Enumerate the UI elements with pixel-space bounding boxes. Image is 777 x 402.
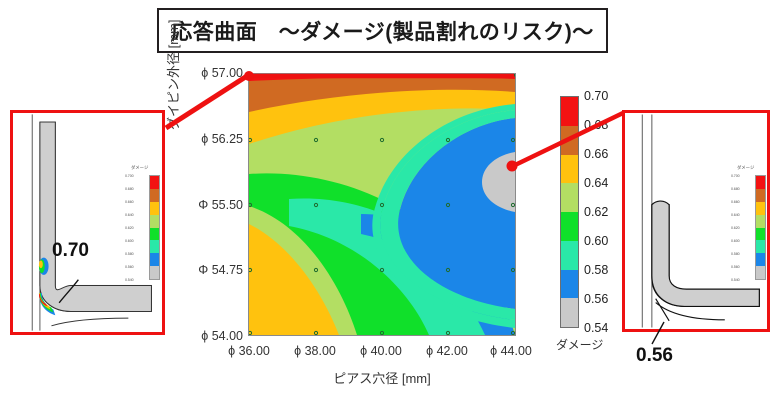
mini-val-0560: 0.560 [125, 265, 134, 269]
mini-val-0700: 0.700 [731, 174, 740, 178]
colorbar-label-068: 0.68 [584, 118, 608, 132]
colorbar-label-054: 0.54 [584, 321, 608, 335]
mini-colorbar-title: ダメージ [737, 165, 754, 171]
x-tick-36: ϕ 36.00 [228, 344, 270, 358]
callout-value-right: 0.56 [636, 345, 673, 367]
swatch-058 [561, 270, 578, 299]
colorbar-label-062: 0.62 [584, 205, 608, 219]
swatch-070 [561, 97, 578, 126]
mini-colorbar-title: ダメージ [131, 165, 148, 171]
swatch-064 [561, 183, 578, 212]
colorbar-swatches [560, 96, 579, 328]
y-axis-ticklabels: ϕ 57.00 ϕ 56.25 Φ 55.50 Φ 54.75 ϕ 54.00 [196, 73, 243, 336]
mini-val-0620: 0.620 [125, 226, 134, 230]
colorbar-label-066: 0.66 [584, 147, 608, 161]
swatch-060 [561, 241, 578, 270]
y-tick-57: ϕ 57.00 [201, 66, 243, 80]
y-tick-54: ϕ 54.00 [201, 329, 243, 343]
mini-val-0600: 0.600 [731, 239, 740, 243]
mini-val-0560: 0.560 [731, 265, 740, 269]
y-tick-5625: ϕ 56.25 [201, 132, 243, 146]
mini-val-0580: 0.580 [731, 252, 740, 256]
x-tick-40: ϕ 40.00 [360, 344, 402, 358]
cae-inset-left: ダメージ 0.700 0.680 0.660 0.640 0.620 0.600… [10, 110, 165, 335]
colorbar-legend: 0.70 0.68 0.66 0.64 0.62 0.60 0.58 0.56 … [560, 96, 620, 334]
mini-colorbar-swatches [149, 175, 160, 280]
swatch-066 [561, 155, 578, 184]
damage-hotspot-upper [39, 258, 49, 275]
mini-val-0600: 0.600 [125, 239, 134, 243]
cae-inset-right: ダメージ 0.700 0.680 0.660 0.640 0.620 0.600… [622, 110, 770, 332]
mini-val-0660: 0.660 [731, 200, 740, 204]
callout-value-left: 0.70 [52, 240, 89, 262]
x-tick-44: ϕ 44.00 [490, 344, 532, 358]
mini-val-0680: 0.680 [731, 187, 740, 191]
y-axis-title: ダイピン外径 [mm] [163, 20, 182, 131]
contour-bands [249, 74, 515, 335]
colorbar-title: ダメージ [556, 336, 603, 353]
x-tick-42: ϕ 42.00 [426, 344, 468, 358]
mini-colorbar-left: ダメージ 0.700 0.680 0.660 0.640 0.620 0.600… [125, 165, 165, 285]
colorbar-label-064: 0.64 [584, 176, 608, 190]
swatch-056 [561, 298, 578, 327]
mini-val-0640: 0.640 [125, 213, 134, 217]
mini-colorbar-swatches [755, 175, 766, 280]
contour-canvas [248, 73, 516, 336]
mini-val-0680: 0.680 [125, 187, 134, 191]
mini-val-0700: 0.700 [125, 174, 134, 178]
mini-val-0540: 0.540 [731, 278, 740, 282]
slide-root: 応答曲面 ～ダメージ(製品割れのリスク)～ [0, 0, 777, 402]
mini-colorbar-right: ダメージ 0.700 0.680 0.660 0.640 0.620 0.600… [731, 165, 770, 285]
colorbar-label-058: 0.58 [584, 263, 608, 277]
response-surface-plot [248, 73, 516, 336]
colorbar-label-056: 0.56 [584, 292, 608, 306]
mini-val-0540: 0.540 [125, 278, 134, 282]
y-tick-5550: Φ 55.50 [198, 198, 243, 212]
x-axis-ticklabels: ϕ 36.00 ϕ 38.00 ϕ 40.00 ϕ 42.00 ϕ 44.00 [248, 344, 516, 362]
y-tick-5475: Φ 54.75 [198, 263, 243, 277]
page-title-box: 応答曲面 ～ダメージ(製品割れのリスク)～ [157, 8, 608, 53]
swatch-062 [561, 212, 578, 241]
mini-val-0620: 0.620 [731, 226, 740, 230]
mini-val-0640: 0.640 [731, 213, 740, 217]
mini-val-0580: 0.580 [125, 252, 134, 256]
colorbar-label-070: 0.70 [584, 89, 608, 103]
colorbar-label-060: 0.60 [584, 234, 608, 248]
mini-val-0660: 0.660 [125, 200, 134, 204]
swatch-068 [561, 126, 578, 155]
page-title: 応答曲面 ～ダメージ(製品割れのリスク)～ [171, 16, 593, 46]
x-tick-38: ϕ 38.00 [294, 344, 336, 358]
x-axis-title: ピアス穴径 [mm] [248, 368, 516, 387]
